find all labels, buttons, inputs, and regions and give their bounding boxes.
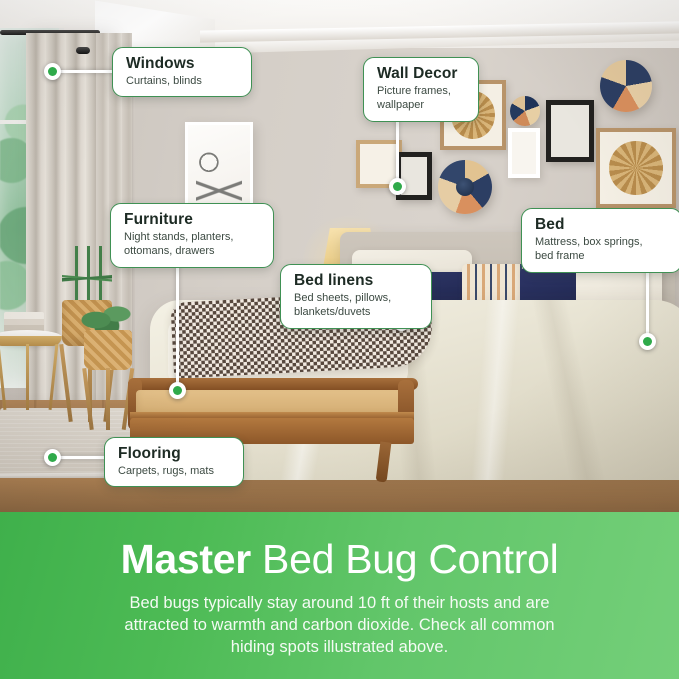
callout-subtitle-line2: blankets/duvets (294, 305, 418, 319)
stacked-books (4, 312, 44, 332)
framed-art-dark-large (546, 100, 594, 162)
banner-heading: Master Bed Bug Control (0, 512, 679, 580)
woven-wall-basket-top (600, 60, 652, 112)
basket-center (456, 178, 474, 196)
wall-decor-marker (389, 178, 406, 195)
banner-body-line2: attracted to warmth and carbon dioxide. … (124, 616, 554, 634)
smoke-detector (76, 47, 90, 54)
windows-marker (44, 63, 61, 80)
callout-subtitle-line2: wallpaper (377, 98, 465, 112)
woven-planter-short (84, 330, 132, 370)
planter-leg (106, 368, 110, 430)
framed-art-white-small (508, 128, 540, 178)
side-table-leg (26, 344, 29, 410)
connector-flooring (56, 456, 108, 459)
side-table-rim (0, 336, 62, 346)
bottom-banner: Master Bed Bug Control Bed bugs typicall… (0, 512, 679, 679)
bed-marker (639, 333, 656, 350)
connector-windows (52, 70, 120, 73)
banner-heading-strong: Master (121, 536, 251, 582)
callout-subtitle-line1: Mattress, box springs, (535, 235, 668, 249)
callout-flooring[interactable]: Flooring Carpets, rugs, mats (104, 437, 244, 487)
callout-subtitle-line1: Carpets, rugs, mats (118, 464, 230, 478)
callout-subtitle-line1: Curtains, blinds (126, 74, 238, 88)
connector-bed (646, 262, 649, 342)
callout-bed-linens[interactable]: Bed linens Bed sheets, pillows, blankets… (280, 264, 432, 329)
callout-subtitle-line2: ottomans, drawers (124, 244, 260, 258)
callout-bed[interactable]: Bed Mattress, box springs, bed frame (521, 208, 679, 273)
banner-body-line3: hiding spots illustrated above. (231, 638, 448, 656)
connector-furniture (176, 252, 179, 392)
floor-front-strip (0, 478, 679, 512)
banner-body-line1: Bed bugs typically stay around 10 ft of … (129, 594, 549, 612)
callout-subtitle-line1: Night stands, planters, (124, 230, 260, 244)
infographic-page: Windows Curtains, blinds Wall Decor Pict… (0, 0, 679, 679)
callout-title: Bed linens (294, 272, 418, 289)
callout-title: Wall Decor (377, 65, 465, 82)
woven-wall-basket-center (438, 160, 492, 214)
callout-wall-decor[interactable]: Wall Decor Picture frames, wallpaper (363, 57, 479, 122)
furniture-marker (169, 382, 186, 399)
callout-title: Flooring (118, 445, 230, 462)
callout-furniture[interactable]: Furniture Night stands, planters, ottoma… (110, 203, 274, 268)
callout-title: Furniture (124, 211, 260, 228)
swirl-art (609, 141, 663, 195)
callout-subtitle-line1: Picture frames, (377, 84, 465, 98)
woven-wall-basket-small (510, 96, 540, 126)
callout-title: Windows (126, 55, 238, 72)
callout-subtitle-line1: Bed sheets, pillows, (294, 291, 418, 305)
callout-subtitle-line2: bed frame (535, 249, 668, 263)
callout-windows[interactable]: Windows Curtains, blinds (112, 47, 252, 97)
framed-art-swirl-2 (596, 128, 676, 208)
flooring-marker (44, 449, 61, 466)
banner-heading-light: Bed Bug Control (262, 536, 558, 582)
callout-title: Bed (535, 216, 668, 233)
banner-body: Bed bugs typically stay around 10 ft of … (0, 580, 679, 659)
